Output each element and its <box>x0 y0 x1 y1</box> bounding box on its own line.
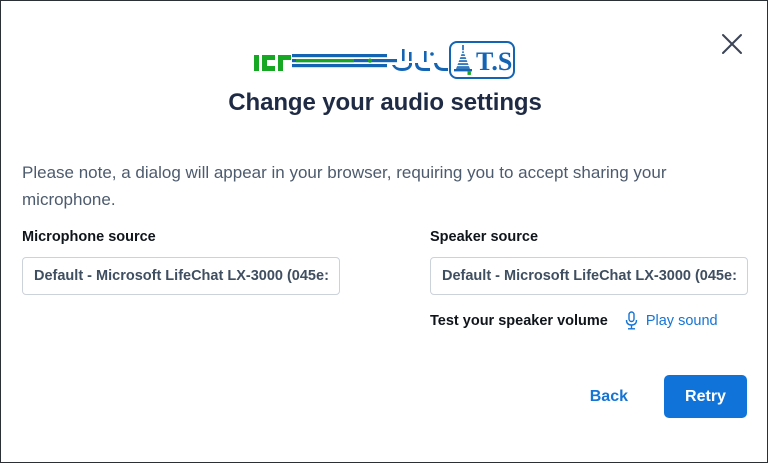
microphone-source-label: Microphone source <box>22 229 340 245</box>
microphone-source-value: Default - Microsoft LifeChat LX-3000 (04… <box>34 268 328 284</box>
retry-button[interactable]: Retry <box>664 375 747 418</box>
test-speaker-row: Test your speaker volume Play sound <box>430 311 718 330</box>
logo-graphic <box>252 41 452 81</box>
speaker-source-group: Speaker source Default - Microsoft LifeC… <box>430 229 748 295</box>
test-speaker-label: Test your speaker volume <box>430 313 608 329</box>
play-sound-link[interactable]: Play sound <box>646 313 718 329</box>
microphone-icon[interactable] <box>624 311 639 330</box>
svg-text:T.S: T.S <box>476 47 512 76</box>
microphone-source-group: Microphone source Default - Microsoft Li… <box>22 229 340 295</box>
back-button[interactable]: Back <box>590 388 628 406</box>
note-text: Please note, a dialog will appear in you… <box>22 159 690 213</box>
speaker-source-label: Speaker source <box>430 229 748 245</box>
speaker-source-value: Default - Microsoft LifeChat LX-3000 (04… <box>442 268 736 284</box>
logo-ts-badge: T.S <box>448 39 518 83</box>
audio-settings-dialog: T.S Change your audio settings Please no… <box>0 0 768 463</box>
brand-logo: T.S <box>1 39 768 83</box>
microphone-glyph <box>624 311 639 330</box>
source-fields: Microphone source Default - Microsoft Li… <box>22 229 748 295</box>
dialog-footer: Back Retry <box>590 375 747 418</box>
microphone-source-select[interactable]: Default - Microsoft LifeChat LX-3000 (04… <box>22 257 340 295</box>
speaker-source-select[interactable]: Default - Microsoft LifeChat LX-3000 (04… <box>430 257 748 295</box>
page-title: Change your audio settings <box>1 89 768 117</box>
